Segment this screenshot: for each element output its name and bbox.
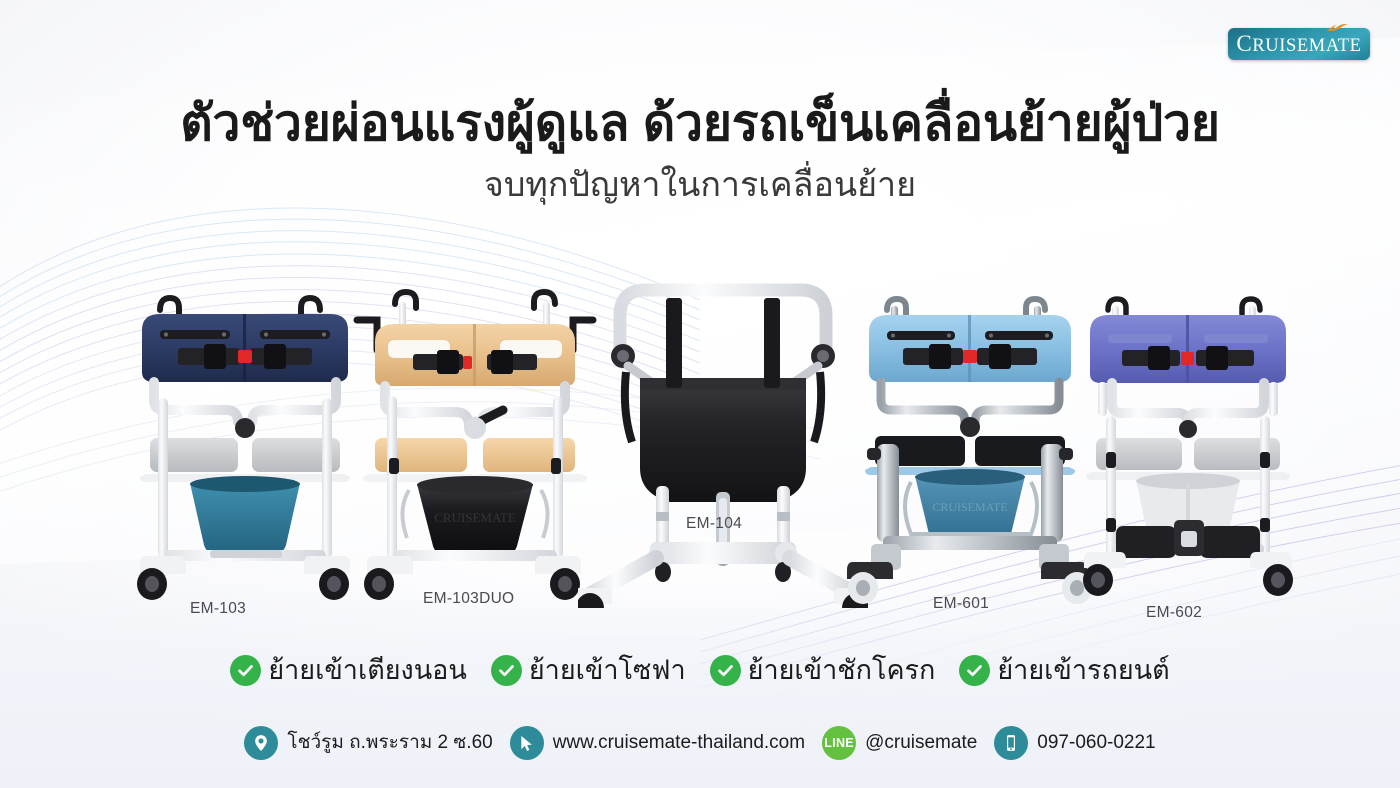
product-showcase: EM-103 [0,236,1400,608]
check-circle-icon [959,655,990,686]
smartphone-icon [994,726,1028,760]
feature-list: ย้ายเข้าเตียงนอน ย้ายเข้าโซฟา ย้ายเข้าชั… [0,655,1400,686]
product-em-103duo-image: CRUISEMATE [345,278,605,608]
product-em-103duo-label: EM-103DUO [423,590,514,608]
line-badge-text: LINE [824,736,854,750]
product-em-602-label: EM-602 [1146,604,1202,622]
cruisemate-logo[interactable]: CRUISEMATE [1228,28,1370,60]
product-em-602-image [1068,286,1308,608]
svg-text:CRUISEMATE: CRUISEMATE [434,510,516,525]
logo-initial: C [1236,31,1252,56]
product-em-104[interactable]: EM-104 [578,236,868,608]
contact-website-text: www.cruisemate-thailand.com [553,732,805,755]
contact-bar: โชว์รูม ถ.พระราม 2 ซ.60 www.cruisemate-t… [0,726,1400,760]
feature-label: ย้ายเข้าโซฟา [529,655,686,686]
seagull-icon [1326,23,1348,33]
page-title: ตัวช่วยผ่อนแรงผู้ดูแล ด้วยรถเข็นเคลื่อนย… [0,95,1400,151]
product-em-104-label: EM-104 [686,515,742,533]
feature-item[interactable]: ย้ายเข้าโซฟา [491,655,686,686]
product-em-103-image [120,278,370,608]
contact-showroom-text: โชว์รูม ถ.พระราม 2 ซ.60 [287,732,492,755]
check-circle-icon [230,655,261,686]
product-em-103-label: EM-103 [190,600,246,618]
contact-phone-text: 097-060-0221 [1037,732,1155,755]
location-pin-icon [244,726,278,760]
product-em-601-label: EM-601 [933,595,989,613]
product-em-601[interactable]: CRUISEMATE EM-601 [845,284,1095,608]
contact-line[interactable]: LINE @cruisemate [822,726,977,760]
feature-item[interactable]: ย้ายเข้าชักโครก [710,655,936,686]
contact-showroom[interactable]: โชว์รูม ถ.พระราม 2 ซ.60 [244,726,492,760]
feature-label: ย้ายเข้าเตียงนอน [268,655,467,686]
product-em-103[interactable]: EM-103 [120,278,370,608]
contact-phone[interactable]: 097-060-0221 [994,726,1155,760]
feature-label: ย้ายเข้าชักโครก [748,655,936,686]
feature-item[interactable]: ย้ายเข้าเตียงนอน [230,655,467,686]
check-circle-icon [491,655,522,686]
cursor-pointer-icon [510,726,544,760]
product-em-104-image [578,236,868,608]
product-em-103duo[interactable]: CRUISEMATE EM-103DUO [345,278,605,608]
contact-line-text: @cruisemate [865,732,977,755]
logo-wordmark: CRUISEMATE [1236,32,1361,56]
logo-rest: RUISEMATE [1252,36,1361,56]
feature-item[interactable]: ย้ายเข้ารถยนต์ [959,655,1169,686]
product-em-601-image: CRUISEMATE [845,284,1095,608]
feature-label: ย้ายเข้ารถยนต์ [997,655,1169,686]
contact-website[interactable]: www.cruisemate-thailand.com [510,726,805,760]
product-em-602[interactable]: EM-602 [1068,286,1308,608]
line-app-icon: LINE [822,726,856,760]
svg-text:CRUISEMATE: CRUISEMATE [932,500,1007,514]
page-subtitle: จบทุกปัญหาในการเคลื่อนย้าย [0,165,1400,206]
check-circle-icon [710,655,741,686]
